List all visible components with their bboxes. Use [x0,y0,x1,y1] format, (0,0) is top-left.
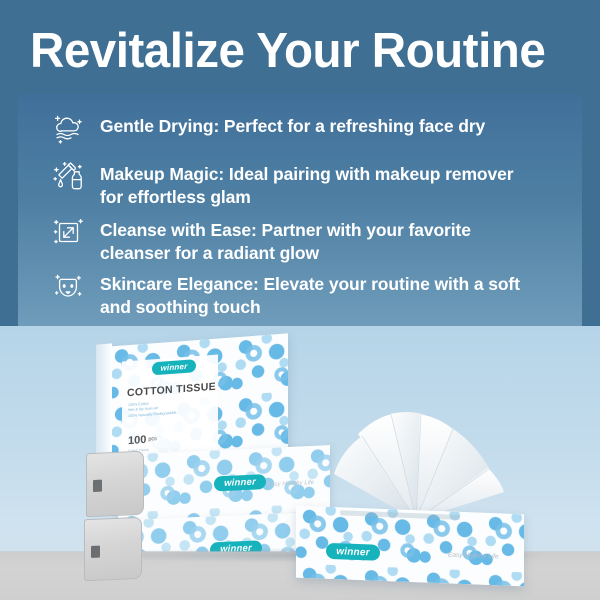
brand-logo: winner [326,543,380,561]
product-marketing-image: Revitalize Your Routine Gentle Drying: P… [0,0,600,600]
feature-item-cleanse-with-ease: Cleanse with Ease: Partner with your fav… [18,212,582,265]
product-name: COTTON TISSUE [127,381,216,400]
feature-text: Gentle Drying: Perfect for a refreshing … [100,108,505,138]
feature-list: Gentle Drying: Perfect for a refreshing … [18,94,582,326]
bottom-pack-end-cap [84,517,142,581]
middle-pack-end-cap [86,451,144,518]
product-count: 100pcs [128,433,157,447]
feature-item-skincare-elegance: Skincare Elegance: Elevate your routine … [18,266,582,319]
end-cap-tab-icon [91,546,100,558]
dropper-bottle-sparkle-icon [36,156,100,196]
brand-logo: winner [152,359,196,375]
page-title: Revitalize Your Routine [30,22,565,80]
feature-text: Makeup Magic: Ideal pairing with makeup … [100,156,550,209]
tissue-fan [328,408,508,520]
product-photo: winner COTTON TISSUE 100% Cotton Wet & d… [0,326,600,600]
product-count-unit: pcs [148,436,157,443]
feature-panel: Gentle Drying: Perfect for a refreshing … [18,94,582,326]
face-sheet-mask-icon [36,266,100,306]
end-cap-tab-icon [93,480,102,492]
cloud-sparkle-icon [36,108,100,148]
product-count-value: 100 [128,434,146,447]
feature-item-gentle-drying: Gentle Drying: Perfect for a refreshing … [18,108,582,148]
brand-logo: winner [214,474,266,491]
feature-text: Skincare Elegance: Elevate your routine … [100,266,550,319]
expand-arrow-sparkle-icon [36,212,100,252]
front-box: winner Easy Healthy Life [296,506,524,587]
feature-text: Cleanse with Ease: Partner with your fav… [100,212,550,265]
feature-item-makeup-magic: Makeup Magic: Ideal pairing with makeup … [18,156,582,209]
product-bullets: 100% Cotton Wet & dry dual use 100% Natu… [128,398,198,419]
